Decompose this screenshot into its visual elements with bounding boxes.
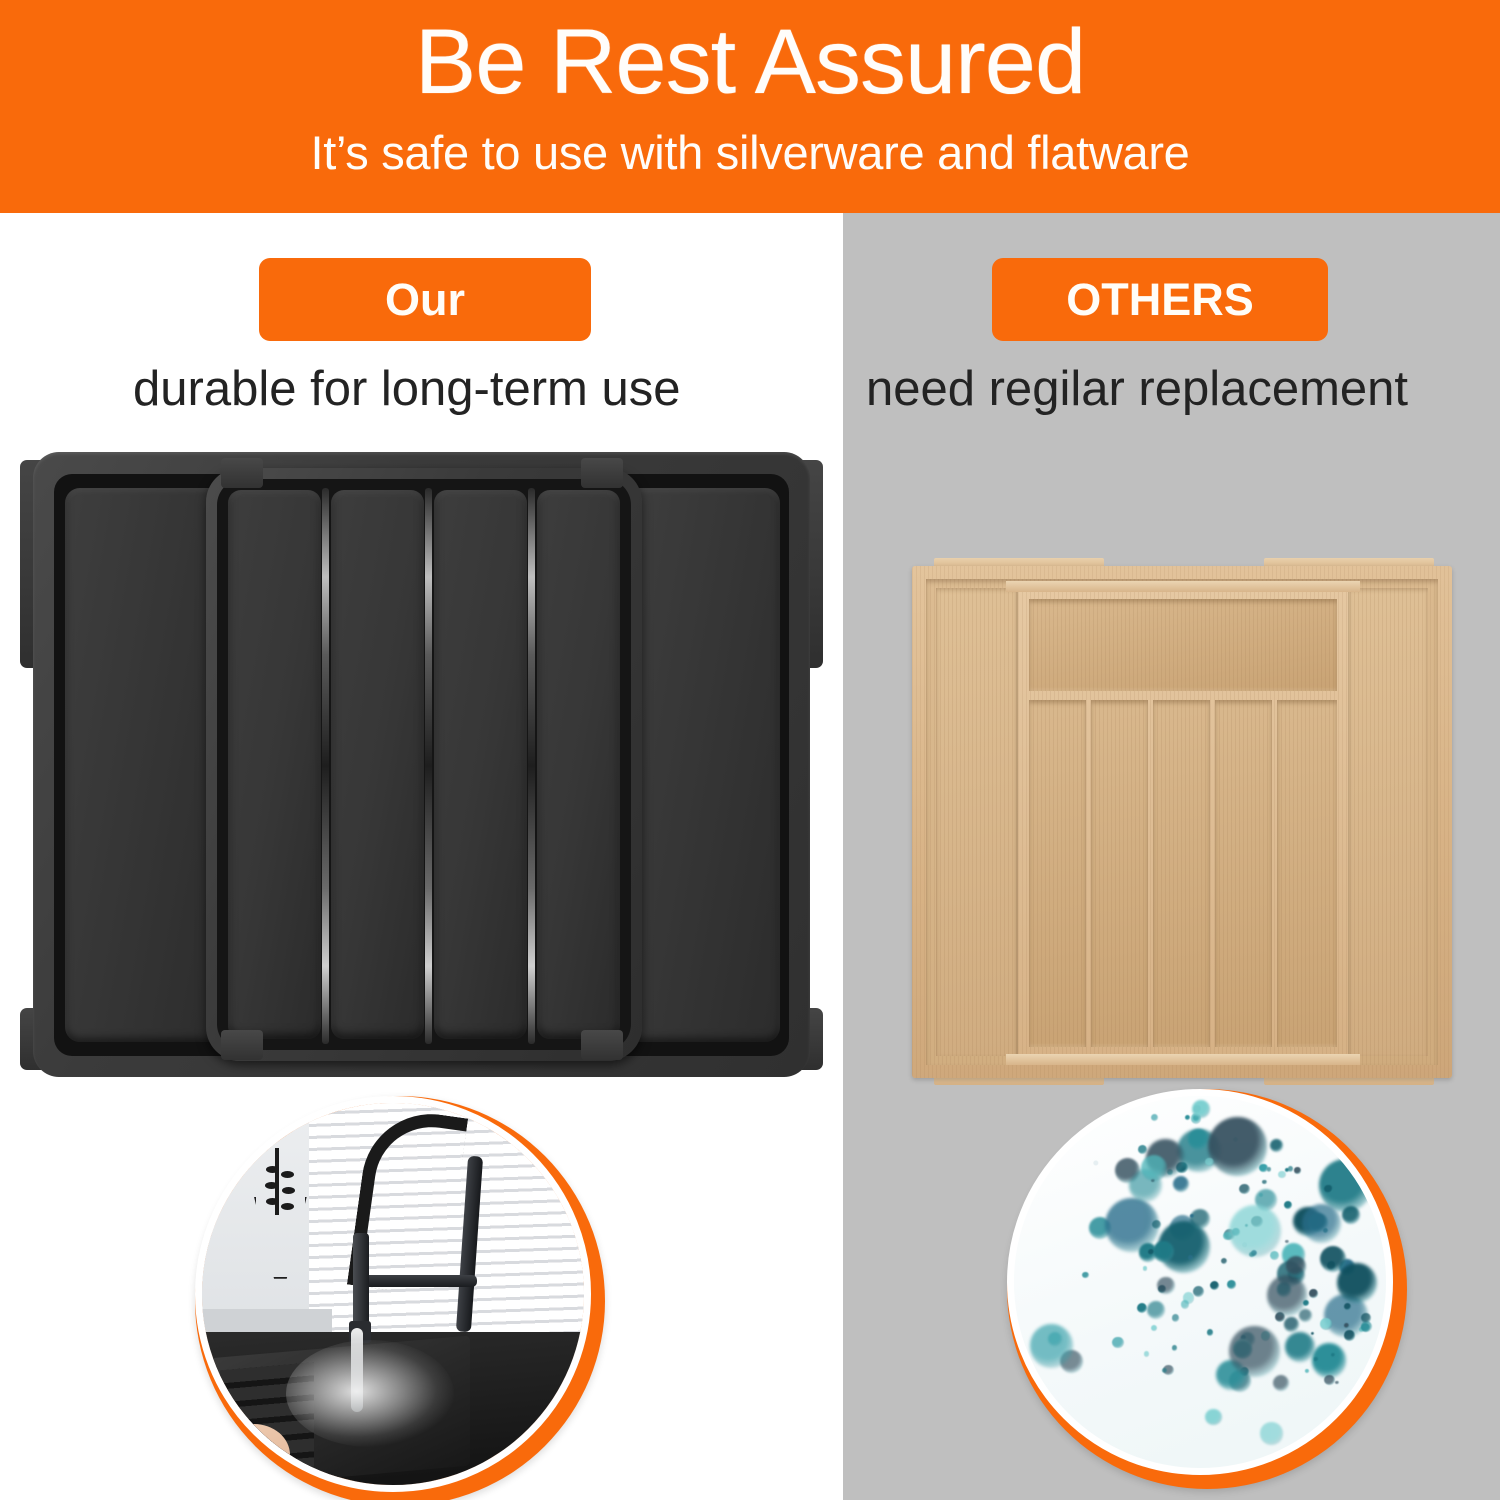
mold-colony (1344, 1330, 1354, 1340)
mold-colony (1324, 1185, 1333, 1194)
product-image-bamboo-tray (912, 566, 1452, 1078)
proof-photo-mold-growth (1007, 1089, 1407, 1489)
wood-compartment-top (1029, 599, 1337, 691)
circle-photo-right (1007, 1089, 1393, 1475)
tray-inner-insert (206, 468, 642, 1061)
mold-colony (1324, 1375, 1334, 1385)
faucet-crossbar (355, 1275, 477, 1287)
tray-insert-nub-bottom-left (221, 1030, 263, 1060)
mold-colony (1267, 1275, 1307, 1315)
wood-side-bay-left (936, 588, 1018, 1056)
mold-colony (1344, 1323, 1349, 1328)
mold-colony (1221, 1258, 1227, 1264)
mold-colony (1294, 1167, 1300, 1173)
mold-colony (1229, 1205, 1281, 1257)
product-image-black-silicone-tray (33, 452, 810, 1077)
mold-colony (1227, 1280, 1236, 1289)
mold-colony (1205, 1409, 1221, 1425)
mold-colony (1260, 1422, 1282, 1444)
wood-compartment-4 (1215, 700, 1272, 1047)
caption-our: durable for long-term use (133, 365, 680, 414)
mold-colony (1115, 1158, 1141, 1184)
wood-compartment-2 (1091, 700, 1148, 1047)
mold-colony (1344, 1303, 1351, 1310)
plant-leaf (266, 1198, 279, 1205)
mold-colony (1141, 1155, 1167, 1181)
mold-colony (1172, 1345, 1178, 1351)
tray-compartment-1 (228, 490, 321, 1039)
mold-colony (1157, 1277, 1174, 1294)
tray-insert-nub-top-right (581, 458, 623, 488)
mold-colony (1305, 1369, 1309, 1373)
badge-others-label: OTHERS (1066, 277, 1254, 322)
tray-side-bay-right (625, 488, 780, 1042)
mold-colony (1314, 1357, 1318, 1361)
plant-leaf (281, 1171, 294, 1178)
wood-insert-rail-top (1006, 581, 1360, 592)
tray-compartment-2 (331, 490, 424, 1039)
tray-compartment-4 (537, 490, 620, 1039)
mold-colony (1205, 1158, 1213, 1166)
mold-colony (1361, 1313, 1370, 1322)
badge-others: OTHERS (992, 258, 1328, 341)
mold-colony (1286, 1256, 1307, 1277)
mold-colony (1208, 1117, 1267, 1176)
mold-colony (1270, 1139, 1283, 1152)
page-subtitle: It’s safe to use with silverware and fla… (310, 129, 1189, 176)
wood-side-bay-right (1346, 588, 1428, 1056)
page-title: Be Rest Assured (415, 16, 1085, 108)
infographic-canvas: Be Rest Assured It’s safe to use with si… (0, 0, 1500, 1500)
mold-colony (1148, 1249, 1154, 1255)
wood-inner-insert (1018, 588, 1348, 1058)
mold-colony (1152, 1220, 1161, 1229)
mold-colony (1144, 1351, 1150, 1357)
tray-insert-nub-bottom-right (581, 1030, 623, 1060)
mold-colony (1190, 1209, 1210, 1229)
mold-colony (1285, 1168, 1289, 1172)
tray-side-bay-left (65, 488, 225, 1042)
mold-colony (1162, 1368, 1167, 1373)
badge-our-label: Our (385, 277, 465, 322)
tray-divider-3 (528, 488, 535, 1044)
tray-compartment-3 (434, 490, 527, 1039)
decor-plant-vase (248, 1164, 309, 1279)
caption-others: need regilar replacement (866, 365, 1408, 414)
wood-insert-rail-bottom (1006, 1054, 1360, 1065)
proof-photo-sink-washing (195, 1096, 605, 1500)
mold-colony (1082, 1272, 1089, 1279)
tray-divider-1 (322, 488, 329, 1044)
mold-colony (1181, 1300, 1190, 1309)
mold-colony (1309, 1289, 1317, 1297)
mold-colony (1302, 1204, 1341, 1243)
sink-scene (202, 1103, 584, 1485)
water-splash (286, 1340, 454, 1447)
header-banner: Be Rest Assured It’s safe to use with si… (0, 0, 1500, 213)
circle-photo-left (195, 1096, 591, 1492)
mold-colony (1030, 1324, 1074, 1368)
mold-colony (1173, 1176, 1189, 1192)
mold-colony (1112, 1337, 1124, 1349)
mold-colony (1327, 1261, 1336, 1270)
mold-colony (1239, 1184, 1249, 1194)
plant-leaf (265, 1182, 278, 1189)
mold-colony (1229, 1326, 1279, 1376)
plant-leaf (266, 1166, 279, 1173)
hand-holding-tray (210, 1424, 290, 1492)
mold-colony (1284, 1317, 1299, 1332)
mold-colony (1138, 1145, 1147, 1154)
wood-compartment-1 (1029, 700, 1086, 1047)
wood-compartment-3 (1153, 700, 1210, 1047)
mold-colony (1172, 1314, 1179, 1321)
mold-colony (1188, 1129, 1209, 1150)
mold-colony (1267, 1167, 1272, 1172)
badge-our: Our (259, 258, 591, 341)
plant-leaf (281, 1203, 294, 1210)
mold-colony (1320, 1318, 1332, 1330)
tray-divider-2 (425, 488, 432, 1044)
tray-insert-nub-top-left (221, 458, 263, 488)
wood-compartment-5 (1277, 700, 1337, 1047)
plant-leaf (282, 1187, 295, 1194)
